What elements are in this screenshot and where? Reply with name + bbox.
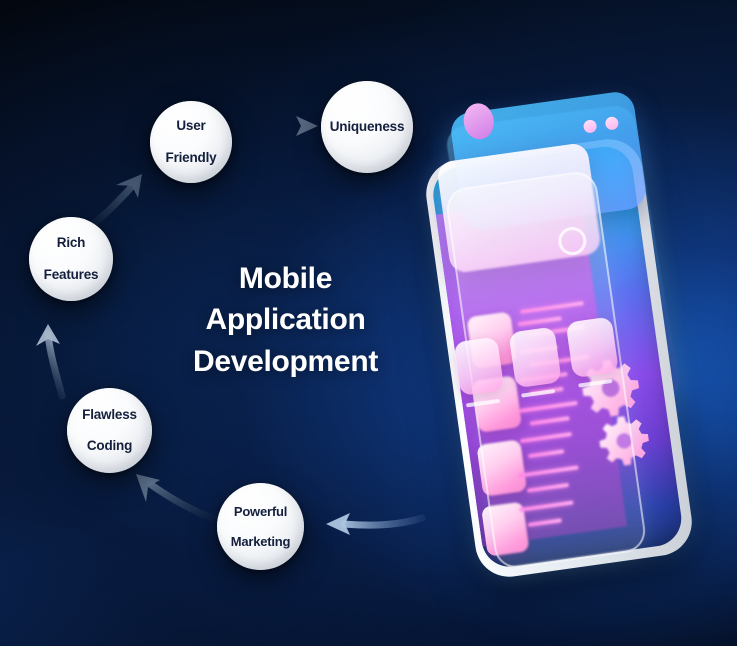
avatar: [461, 101, 496, 141]
ui-tile: [453, 337, 504, 397]
camera-hole-icon: [557, 225, 589, 257]
page-title: Mobile Application Development: [168, 258, 403, 382]
card-dot-icon: [605, 116, 620, 131]
ui-tile-caption: [578, 379, 612, 388]
card-dot-icon: [583, 119, 598, 134]
ui-tile: [508, 326, 561, 388]
cycle-node-powerful-marketing[interactable]: PowerfulMarketing: [217, 483, 304, 570]
cycle-node-label: UserFriendly: [166, 118, 217, 166]
smartphone-illustration: [396, 60, 726, 580]
cycle-node-label: PowerfulMarketing: [231, 504, 291, 550]
arrow-marketing-to-flawless: [118, 462, 226, 532]
title-line-1: Mobile: [168, 258, 403, 299]
cycle-node-rich-features[interactable]: RichFeatures: [29, 217, 113, 301]
cycle-node-flawless-coding[interactable]: FlawlessCoding: [67, 388, 152, 473]
arrow-flawless-to-rich: [22, 310, 92, 402]
cycle-node-label: Uniqueness: [330, 119, 405, 135]
illustration-canvas: UserFriendly Uniqueness RichFeatures Fla…: [0, 0, 737, 646]
cycle-node-uniqueness[interactable]: Uniqueness: [321, 81, 413, 173]
cycle-node-label: RichFeatures: [44, 235, 99, 283]
cycle-node-label: FlawlessCoding: [82, 407, 137, 455]
cycle-node-user-friendly[interactable]: UserFriendly: [150, 101, 232, 183]
title-line-2: Application: [168, 299, 403, 340]
ui-tile: [566, 316, 619, 378]
ui-tile-caption: [521, 389, 555, 398]
title-line-3: Development: [168, 341, 403, 382]
arrow-user-to-uniqueness: [240, 108, 330, 146]
